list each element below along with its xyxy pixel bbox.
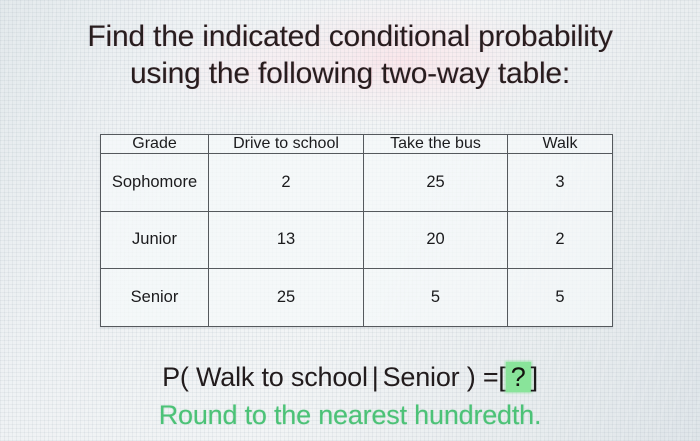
table-row: Sophomore 2 25 3 [101,154,613,212]
bracket-right: ] [531,362,538,392]
cell-junior-walk: 2 [508,211,613,269]
table-header-row: Grade Drive to school Take the bus Walk [101,135,613,154]
cell-senior-bus: 5 [364,269,508,327]
table-row: Senior 25 5 5 [101,269,613,327]
conditional-bar: | [368,362,383,392]
column-header-bus: Take the bus [364,135,508,154]
page-title: Find the indicated conditional probabili… [0,18,700,92]
probability-question: P( Walk to school|Senior ) =[?] [0,360,700,394]
cell-junior-bus: 20 [364,211,508,269]
cell-senior-drive: 25 [209,269,364,327]
row-label-sophomore: Sophomore [101,154,209,212]
row-label-junior: Junior [101,211,209,269]
cell-senior-walk: 5 [508,269,613,327]
worksheet-page: Find the indicated conditional probabili… [0,0,700,441]
table-row: Junior 13 20 2 [101,211,613,269]
cell-sophomore-bus: 25 [364,154,508,212]
cell-junior-drive: 13 [209,211,364,269]
column-header-drive: Drive to school [209,135,364,154]
cell-sophomore-drive: 2 [209,154,364,212]
answer-placeholder[interactable]: ? [506,362,531,392]
two-way-table-container: Grade Drive to school Take the bus Walk … [100,134,612,327]
answer-blank[interactable]: [?] [498,360,537,394]
question-condition: Senior ) = [383,362,499,392]
prompt-line-1: Find the indicated conditional probabili… [0,18,700,55]
column-header-walk: Walk [508,135,613,154]
rounding-instruction: Round to the nearest hundredth. [0,398,700,432]
prompt-line-2: using the following two-way table: [0,55,700,92]
question-expression: P( Walk to school [162,362,368,392]
row-label-senior: Senior [101,269,209,327]
bracket-left: [ [498,362,505,392]
cell-sophomore-walk: 3 [508,154,613,212]
two-way-table: Grade Drive to school Take the bus Walk … [100,134,613,327]
column-header-grade: Grade [101,135,209,154]
